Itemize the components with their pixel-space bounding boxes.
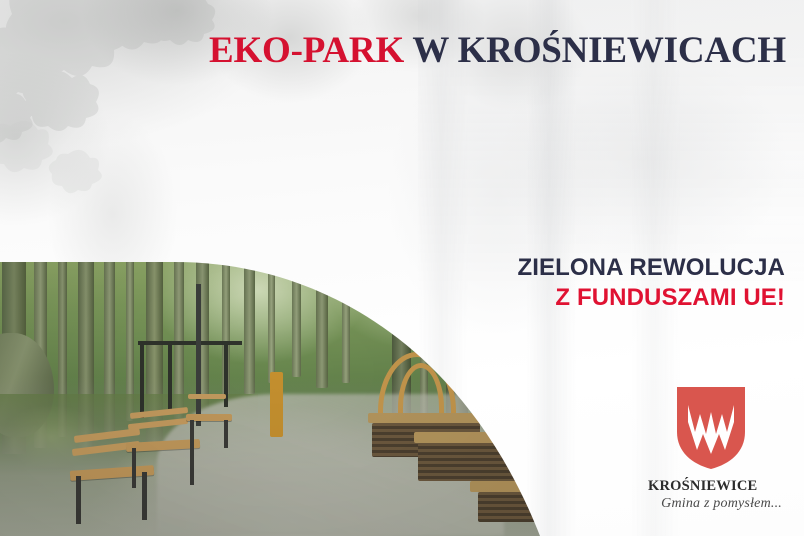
municipality-logo: KROŚNIEWICE Gmina z pomysłem... xyxy=(648,386,788,526)
subtitle-line-green-revolution: ZIELONA REWOLUCJA xyxy=(518,253,785,283)
coat-of-arms-shield-icon xyxy=(676,386,746,470)
page-title: EKO-PARK W KROŚNIEWICACH xyxy=(0,29,786,73)
subtitle-block: ZIELONA REWOLUCJA Z FUNDUSZAMI UE! xyxy=(518,253,785,313)
poster-canvas: EKO-PARK W KROŚNIEWICACH ZIELONA REWOLUC… xyxy=(0,0,804,536)
title-part-location: W KROŚNIEWICACH xyxy=(404,30,786,71)
title-part-eko-park: EKO-PARK xyxy=(209,30,404,71)
subtitle-line-eu-funds: Z FUNDUSZAMI UE! xyxy=(518,283,785,313)
logo-tagline: Gmina z pomysłem... xyxy=(648,496,788,512)
logo-municipality-name: KROŚNIEWICE xyxy=(648,478,788,495)
